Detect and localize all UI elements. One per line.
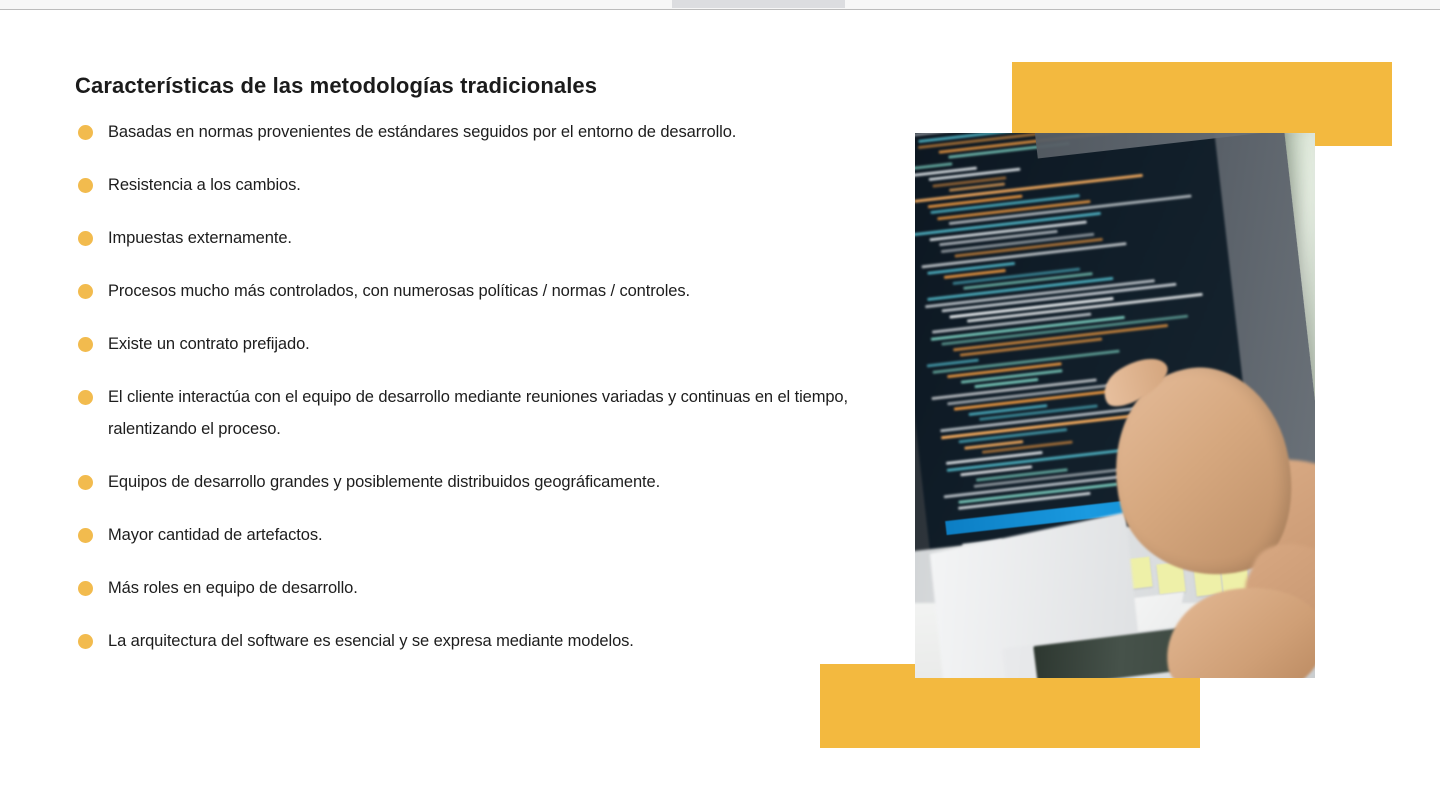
list-item-label: Impuestas externamente.: [108, 229, 292, 247]
list-item: Mayor cantidad de artefactos.: [75, 519, 875, 551]
list-item-label: Existe un contrato prefijado.: [108, 335, 310, 353]
bullet-dot-icon: [78, 634, 93, 649]
browser-top-strip: [0, 0, 1440, 10]
list-item: Impuestas externamente.: [75, 222, 875, 254]
list-item-label: Procesos mucho más controlados, con nume…: [108, 282, 690, 300]
list-item: Resistencia a los cambios.: [75, 169, 875, 201]
list-item-label: Más roles en equipo de desarrollo.: [108, 579, 358, 597]
bullet-dot-icon: [78, 231, 93, 246]
list-item: Existe un contrato prefijado.: [75, 328, 875, 360]
bullet-dot-icon: [78, 581, 93, 596]
bullet-dot-icon: [78, 337, 93, 352]
browser-tab[interactable]: [672, 0, 845, 8]
list-item-label: Basadas en normas provenientes de estánd…: [108, 123, 736, 141]
developer-photo: [915, 133, 1315, 678]
list-item-label: La arquitectura del software es esencial…: [108, 632, 634, 650]
page-title: Características de las metodologías trad…: [75, 72, 875, 100]
list-item: El cliente interactúa con el equipo de d…: [75, 381, 875, 445]
list-item: Equipos de desarrollo grandes y posiblem…: [75, 466, 875, 498]
slide-canvas: Características de las metodologías trad…: [0, 10, 1440, 810]
list-item: Procesos mucho más controlados, con nume…: [75, 275, 875, 307]
bullet-list: Basadas en normas provenientes de estánd…: [75, 116, 875, 657]
list-item-label: Equipos de desarrollo grandes y posiblem…: [108, 473, 660, 491]
list-item-label: Mayor cantidad de artefactos.: [108, 526, 322, 544]
list-item-label: El cliente interactúa con el equipo de d…: [108, 388, 848, 438]
slide-content: Características de las metodologías trad…: [75, 72, 875, 657]
list-item: Más roles en equipo de desarrollo.: [75, 572, 875, 604]
photo-layers: [915, 133, 1315, 678]
bullet-dot-icon: [78, 528, 93, 543]
bullet-dot-icon: [78, 284, 93, 299]
bullet-dot-icon: [78, 125, 93, 140]
list-item-label: Resistencia a los cambios.: [108, 176, 301, 194]
list-item: Basadas en normas provenientes de estánd…: [75, 116, 875, 148]
bullet-dot-icon: [78, 390, 93, 405]
bullet-dot-icon: [78, 475, 93, 490]
bullet-dot-icon: [78, 178, 93, 193]
list-item: La arquitectura del software es esencial…: [75, 625, 875, 657]
